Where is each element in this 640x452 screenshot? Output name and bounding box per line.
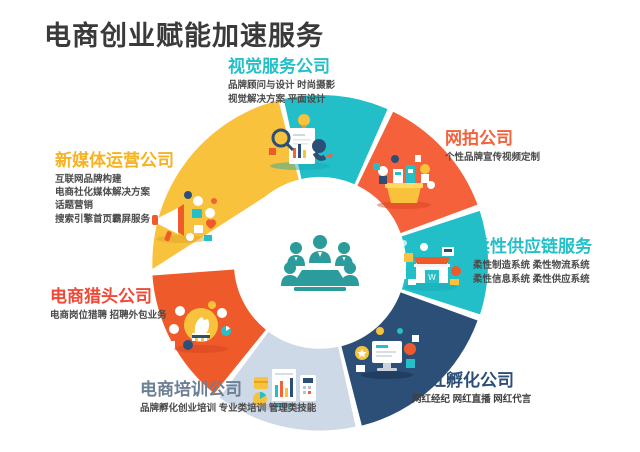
label-media-sub-2: 话题营销 xyxy=(55,199,174,212)
label-hunt-title: 电商猎头公司 xyxy=(50,288,167,306)
label-visual-title: 视觉服务公司 xyxy=(228,58,335,76)
center-hub xyxy=(254,197,386,329)
label-supply-sub-1: 柔性信息系统 柔性供应系统 xyxy=(473,273,592,287)
label-photo[interactable]: 网拍公司 个性品牌宣传视频定制 xyxy=(445,130,540,165)
label-hunt-sub-0: 电商岗位猎聘 招聘外包业务 xyxy=(50,309,167,323)
label-incubate-sub-0: 网红经纪 网红直播 网红代言 xyxy=(412,393,531,407)
label-media[interactable]: 新媒体运营公司 互联网品牌构建 电商社化媒体解决方案 话题营销 搜索引擎首页霸屏… xyxy=(55,152,174,226)
label-hunt[interactable]: 电商猎头公司 电商岗位猎聘 招聘外包业务 xyxy=(50,288,167,323)
label-photo-sub-0: 个性品牌宣传视频定制 xyxy=(445,151,540,165)
label-train[interactable]: 电商培训公司 品牌孵化创业培训 专业类培训 管理类技能 xyxy=(140,381,316,416)
label-supply-title: 柔性供应链服务 xyxy=(473,238,592,256)
infographic-page: 电商创业赋能加速服务 xyxy=(0,0,640,452)
label-visual[interactable]: 视觉服务公司 品牌顾问与设计 时尚摄影 视觉解决方案 平面设计 xyxy=(228,58,335,106)
label-media-sub-3: 搜索引擎首页霸屏服务 xyxy=(55,213,174,226)
label-incubate[interactable]: 网红孵化公司 网红经纪 网红直播 网红代言 xyxy=(412,372,531,407)
label-media-sub-0: 互联网品牌构建 xyxy=(55,173,174,186)
label-train-sub-0: 品牌孵化创业培训 专业类培训 管理类技能 xyxy=(140,402,316,416)
meeting-table-team-icon xyxy=(276,230,364,296)
label-visual-sub-0: 品牌顾问与设计 时尚摄影 xyxy=(228,79,335,93)
label-supply-sub-0: 柔性制造系统 柔性物流系统 xyxy=(473,259,592,273)
page-title: 电商创业赋能加速服务 xyxy=(44,14,324,53)
label-supply[interactable]: 柔性供应链服务 柔性制造系统 柔性物流系统 柔性信息系统 柔性供应系统 xyxy=(473,238,592,286)
label-photo-title: 网拍公司 xyxy=(445,130,540,148)
label-train-title: 电商培训公司 xyxy=(140,381,316,399)
label-incubate-title: 网红孵化公司 xyxy=(412,372,531,390)
label-media-sub-1: 电商社化媒体解决方案 xyxy=(55,186,174,199)
label-media-title: 新媒体运营公司 xyxy=(55,152,174,170)
label-visual-sub-1: 视觉解决方案 平面设计 xyxy=(228,93,335,107)
